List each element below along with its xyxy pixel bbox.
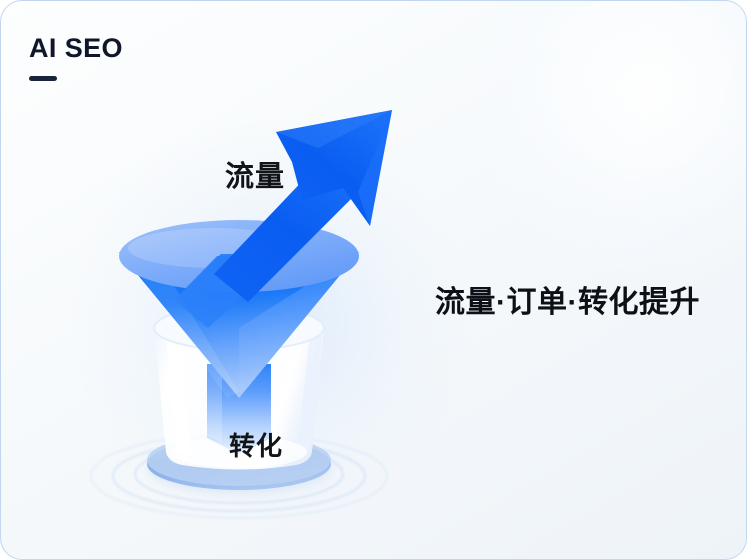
headline-text: 流量·订单·转化提升: [435, 277, 700, 321]
page-title: AI SEO: [29, 35, 123, 62]
background-glow-right: [466, 0, 747, 271]
header: AI SEO: [29, 35, 123, 81]
title-underline-rule: [29, 76, 57, 81]
label-traffic: 流量: [225, 153, 285, 195]
illustration-canvas: AI SEO: [0, 0, 747, 560]
label-conversion: 转化: [229, 426, 283, 463]
funnel-cone: [119, 220, 359, 398]
